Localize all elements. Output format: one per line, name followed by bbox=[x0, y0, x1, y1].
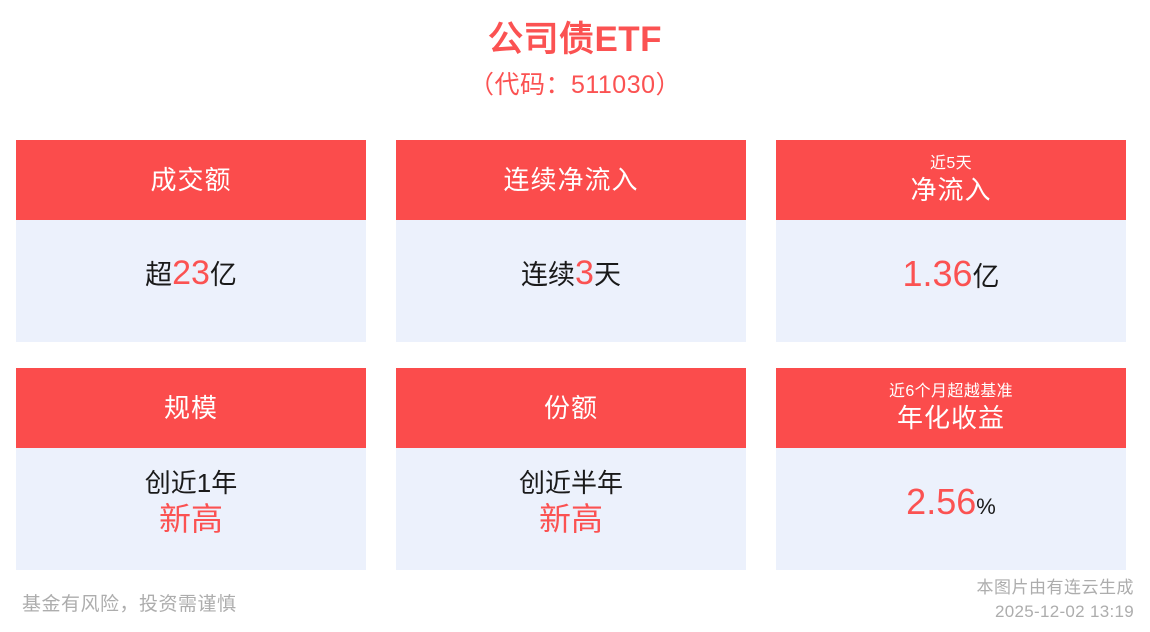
card-header-title: 成交额 bbox=[150, 164, 231, 196]
fund-code: （代码：511030） bbox=[0, 66, 1150, 104]
generator-note: 本图片由有连云生成 bbox=[977, 576, 1135, 600]
card-header-title: 净流入 bbox=[910, 174, 991, 206]
card-value-part: 超 bbox=[145, 261, 172, 291]
card-value-line-1: 创近半年 bbox=[519, 466, 623, 500]
metric-card-annualized-excess-return: 近6个月超越基准年化收益2.56% bbox=[776, 368, 1126, 570]
card-header-subtitle: 近6个月超越基准 bbox=[889, 382, 1013, 402]
metric-card-grid: 成交额超23亿连续净流入连续3天近5天净流入1.36亿规模创近1年新高份额创近半… bbox=[16, 140, 1134, 570]
card-body-turnover: 超23亿 bbox=[16, 220, 366, 342]
card-body-consecutive-net-inflow: 连续3天 bbox=[396, 220, 746, 342]
card-header-subtitle: 近5天 bbox=[930, 154, 972, 174]
card-value-line-2: 新高 bbox=[539, 500, 603, 538]
card-value-part: 2.56 bbox=[906, 482, 976, 522]
generated-timestamp: 2025-12-02 13:19 bbox=[977, 600, 1135, 624]
card-body-fund-scale: 创近1年新高 bbox=[16, 448, 366, 570]
footer: 基金有风险，投资需谨慎 本图片由有连云生成 2025-12-02 13:19 bbox=[0, 568, 1150, 632]
metric-card-consecutive-net-inflow: 连续净流入连续3天 bbox=[396, 140, 746, 342]
card-header-net-inflow-5d: 近5天净流入 bbox=[776, 140, 1126, 220]
metric-card-turnover: 成交额超23亿 bbox=[16, 140, 366, 342]
card-header-fund-scale: 规模 bbox=[16, 368, 366, 448]
card-value: 连续3天 bbox=[521, 255, 621, 292]
card-value-line-2: 新高 bbox=[159, 500, 223, 538]
card-value-part: 23 bbox=[172, 255, 210, 292]
card-header-fund-shares: 份额 bbox=[396, 368, 746, 448]
card-body-net-inflow-5d: 1.36亿 bbox=[776, 220, 1126, 342]
card-header-title: 份额 bbox=[544, 392, 598, 424]
card-value-part: 1.36 bbox=[902, 254, 972, 294]
page-title: 公司债ETF bbox=[0, 18, 1150, 62]
card-value-part: 亿 bbox=[973, 263, 1000, 293]
card-header-consecutive-net-inflow: 连续净流入 bbox=[396, 140, 746, 220]
risk-disclaimer: 基金有风险，投资需谨慎 bbox=[22, 589, 237, 616]
card-value-part: 天 bbox=[594, 261, 621, 291]
card-value-part: 3 bbox=[575, 255, 594, 292]
card-value-line-1: 创近1年 bbox=[145, 466, 237, 500]
metric-card-net-inflow-5d: 近5天净流入1.36亿 bbox=[776, 140, 1126, 342]
card-body-annualized-excess-return: 2.56% bbox=[776, 448, 1126, 570]
card-value-part: % bbox=[976, 495, 996, 519]
title-block: 公司债ETF （代码：511030） bbox=[0, 0, 1150, 104]
card-header-title: 规模 bbox=[164, 392, 218, 424]
card-header-title: 年化收益 bbox=[897, 402, 1005, 434]
card-value: 1.36亿 bbox=[902, 254, 999, 294]
card-value-part: 连续 bbox=[521, 261, 575, 291]
card-value: 2.56% bbox=[906, 482, 996, 522]
footer-meta: 本图片由有连云生成 2025-12-02 13:19 bbox=[977, 576, 1135, 624]
metric-card-fund-shares: 份额创近半年新高 bbox=[396, 368, 746, 570]
card-header-title: 连续净流入 bbox=[503, 164, 638, 196]
metric-card-fund-scale: 规模创近1年新高 bbox=[16, 368, 366, 570]
card-value-part: 亿 bbox=[210, 261, 237, 291]
poster-root: 公司债ETF （代码：511030） 成交额超23亿连续净流入连续3天近5天净流… bbox=[0, 0, 1150, 632]
card-header-turnover: 成交额 bbox=[16, 140, 366, 220]
card-value: 超23亿 bbox=[145, 255, 237, 292]
card-body-fund-shares: 创近半年新高 bbox=[396, 448, 746, 570]
card-header-annualized-excess-return: 近6个月超越基准年化收益 bbox=[776, 368, 1126, 448]
